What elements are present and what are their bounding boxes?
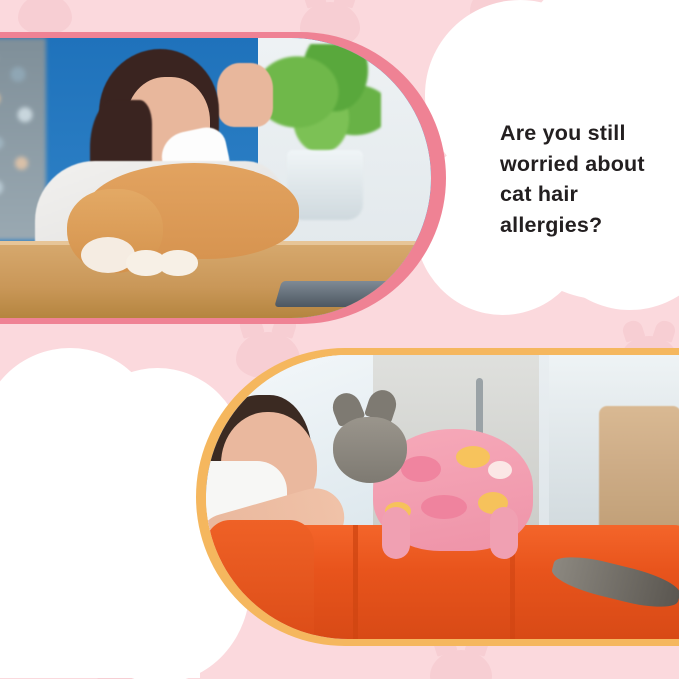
headline-line-2: worried about bbox=[500, 149, 670, 180]
top-photo-frame bbox=[0, 32, 446, 324]
top-headline: Are you still worried about cat hair all… bbox=[500, 118, 670, 240]
bottom-photo-cat-onesie bbox=[206, 355, 679, 639]
infographic-canvas: Are you still worried about cat hair all… bbox=[0, 0, 679, 679]
top-section: Are you still worried about cat hair all… bbox=[0, 0, 679, 348]
bottom-photo-frame bbox=[196, 348, 679, 646]
headline-line-4: allergies? bbox=[500, 210, 670, 241]
headline-line-3: cat hair bbox=[500, 179, 670, 210]
top-photo-allergy bbox=[0, 38, 431, 318]
headline-line-1: Are you still bbox=[500, 118, 670, 149]
bottom-section: PUMYPOREITY cat clothes is made of stick… bbox=[0, 348, 679, 679]
